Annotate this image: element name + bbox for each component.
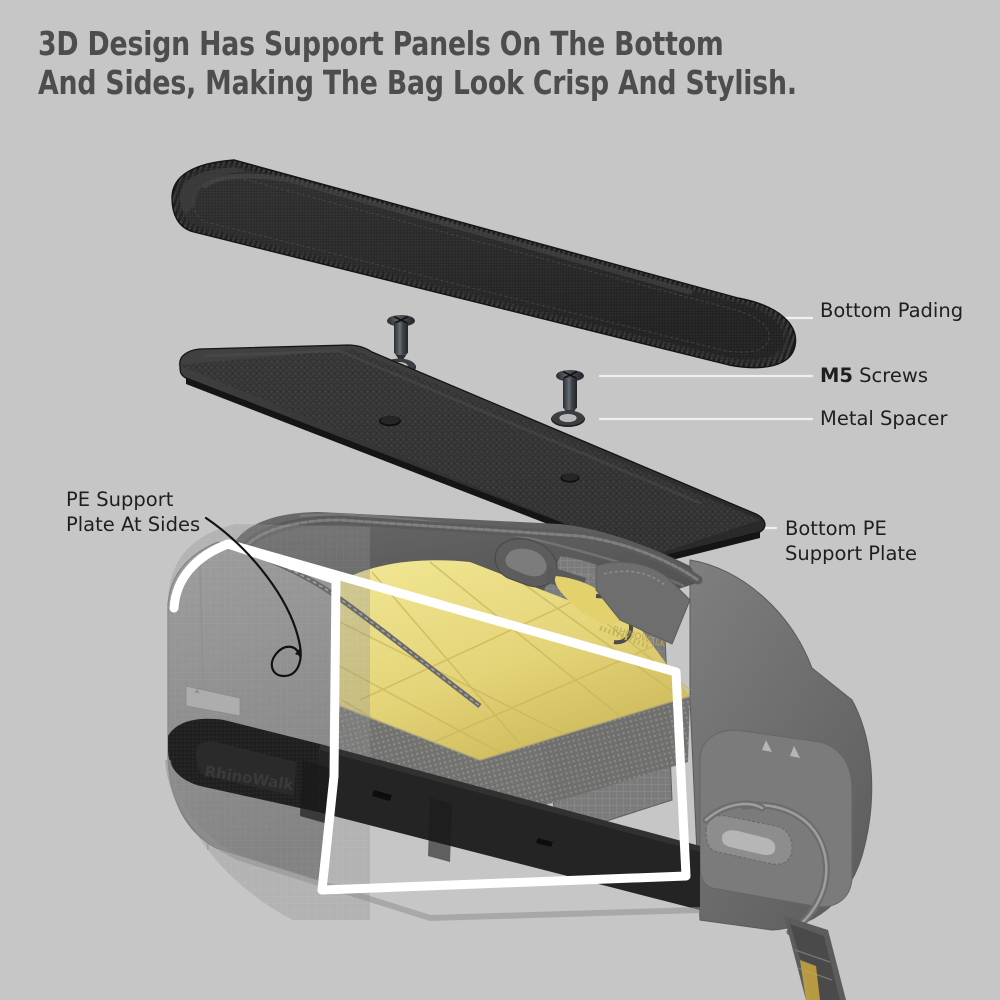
hanging-webbing-strap bbox=[784, 916, 846, 1000]
callout-bottom-pe-support-plate: Bottom PE Support Plate bbox=[785, 516, 917, 566]
callout-m5-screws-rest: Screws bbox=[853, 364, 928, 387]
metal-spacer-right bbox=[551, 411, 585, 427]
callout-metal-spacer: Metal Spacer bbox=[820, 406, 947, 431]
m5-screw-left bbox=[387, 315, 415, 360]
bag-body: RhinoWalk RHINOW bbox=[150, 512, 872, 1000]
callout-bottom-padding: Bottom Pading bbox=[820, 298, 963, 323]
callout-m5-screws: M5 Screws bbox=[820, 363, 928, 388]
pe-plate-hole-2 bbox=[561, 473, 580, 482]
callout-m5-screws-bold: M5 bbox=[820, 364, 853, 387]
callout-pe-support-plate-at-sides: PE Support Plate At Sides bbox=[66, 487, 200, 537]
pe-plate-hole-1 bbox=[379, 416, 401, 426]
infographic-canvas: 3D Design Has Support Panels On The Bott… bbox=[0, 0, 1000, 1000]
m5-screw-right bbox=[556, 370, 584, 415]
